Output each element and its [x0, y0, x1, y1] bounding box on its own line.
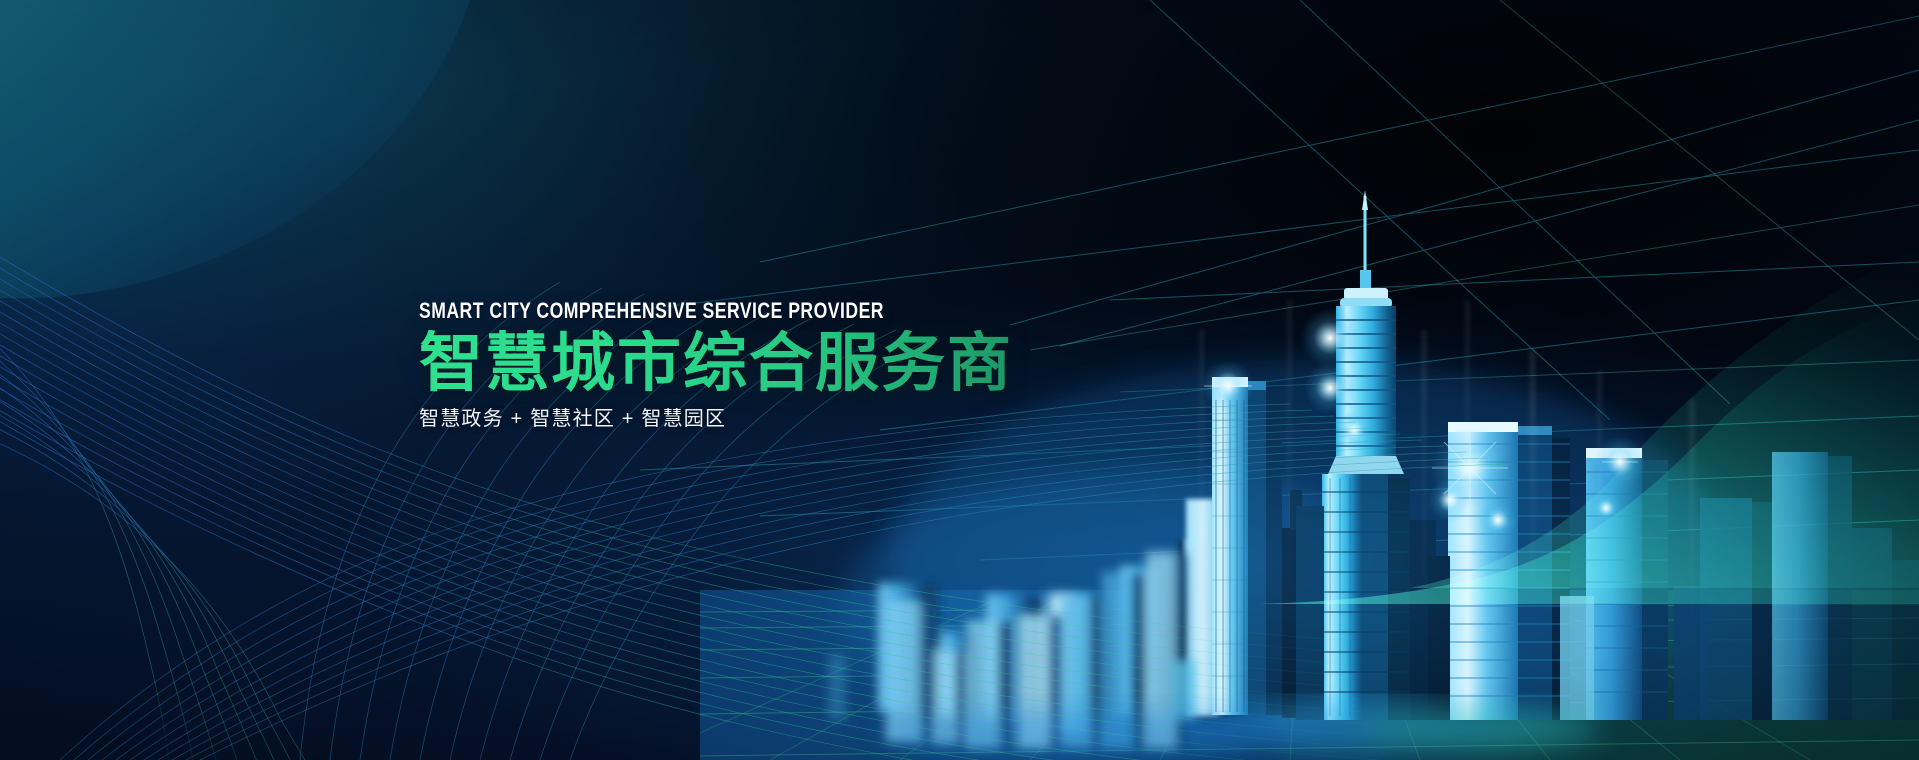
hero-copy: SMART CITY COMPREHENSIVE SERVICE PROVIDE…: [419, 300, 1179, 431]
hero-banner: SMART CITY COMPREHENSIVE SERVICE PROVIDE…: [0, 0, 1919, 760]
hero-eyebrow: SMART CITY COMPREHENSIVE SERVICE PROVIDE…: [419, 300, 1027, 322]
hero-subtitle: 智慧政务 + 智慧社区 + 智慧园区: [419, 407, 1179, 431]
page-title: 智慧城市综合服务商: [419, 330, 1179, 399]
